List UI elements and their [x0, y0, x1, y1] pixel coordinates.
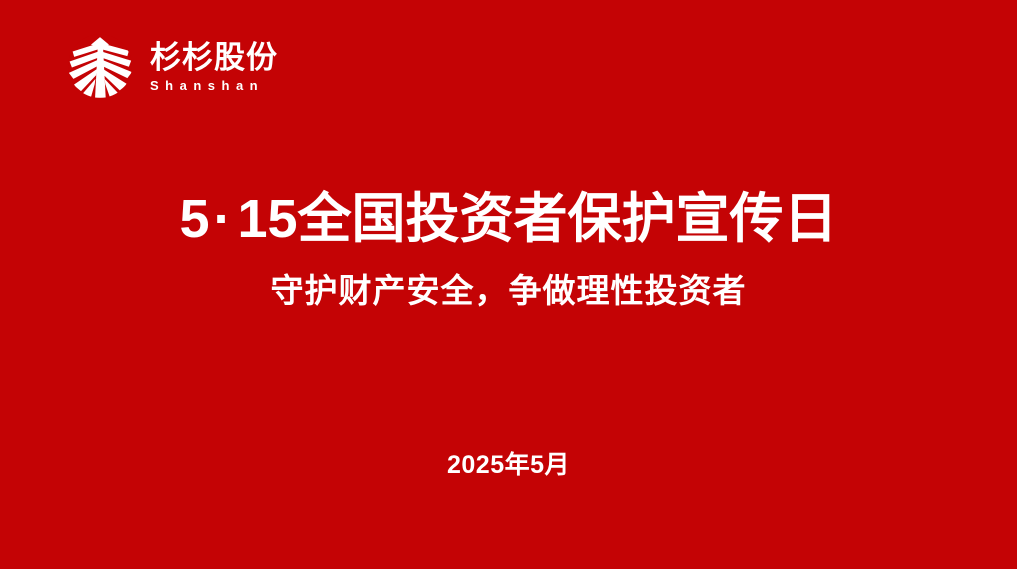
brand-wordmark: 杉杉股份 Shanshan: [150, 38, 278, 94]
brand-name-cn: 杉杉股份: [150, 42, 278, 75]
brand-name-en: Shanshan: [150, 78, 278, 94]
presentation-title-slide: 杉杉股份 Shanshan 5·15全国投资者保护宣传日 守护财产安全，争做理性…: [0, 0, 1017, 569]
title-rest: 15全国投资者保护宣传日: [237, 189, 837, 249]
page-title: 5·15全国投资者保护宣传日: [0, 188, 1017, 252]
title-separator: ·: [209, 189, 237, 249]
shanshan-tree-emblem-icon: [62, 28, 138, 104]
brand-lockup: 杉杉股份 Shanshan: [62, 28, 278, 104]
page-subtitle: 守护财产安全，争做理性投资者: [0, 270, 1017, 311]
title-prefix: 5: [179, 189, 209, 249]
slide-date: 2025年5月: [0, 445, 1017, 481]
headline-block: 5·15全国投资者保护宣传日 守护财产安全，争做理性投资者: [0, 188, 1017, 311]
